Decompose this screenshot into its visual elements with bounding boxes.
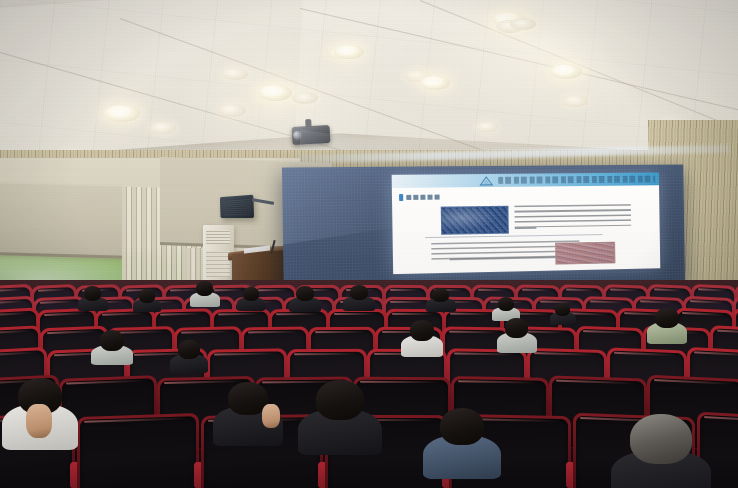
attendee-head [655,308,679,328]
slide-photo-landscape [555,242,615,265]
attendee-head [432,288,449,302]
slide-paragraph-tail [515,227,537,229]
attendee-head [84,286,101,301]
attendee-head [350,285,368,300]
seat-highlight [276,313,318,315]
slide-paragraph-text [514,204,631,227]
attendee-front-phone-face [262,404,280,428]
attendee-head [555,303,570,316]
presentation-slide [392,173,661,275]
attendee-head [410,320,434,341]
ceiling-downlight-2 [258,85,292,101]
seat-highlight [258,289,286,291]
projector-mount [305,119,311,128]
ceiling-downlight-6 [150,122,176,134]
ac-grille-top [206,230,230,244]
slide-header-title-text [498,175,655,183]
led-display-wall[interactable] [282,165,685,293]
ceiling-downlight-7 [218,104,246,117]
ceiling-downlight-17 [476,122,498,132]
ceiling-downlight-1 [104,105,140,122]
attendee-head [630,414,692,464]
slide-divider [425,234,602,238]
attendee-head [100,330,124,351]
attendee-head [440,408,484,445]
ceiling-downlight-13 [420,76,450,90]
attendee-head [296,286,314,301]
ceiling-downlight-14 [550,64,582,79]
slide-photo-conference [441,206,509,235]
wall-speaker [220,195,254,218]
attendee-head [498,297,514,311]
seat-highlight [334,313,376,315]
seat-highlight [392,313,434,315]
seat-back [80,416,196,488]
attendee-head [243,287,259,301]
seat-highlight [294,353,356,355]
attendee-head [505,318,528,338]
ceiling-downlight-15 [562,95,588,107]
seat-highlight [360,381,440,383]
heading-bullet-icon [399,194,403,201]
auditorium-photo [0,0,738,488]
ceiling-downlight-8 [292,92,318,104]
auditorium-seat[interactable] [80,416,196,488]
slide-section-heading [399,194,441,202]
attendee-head [178,340,200,359]
roller-blind[interactable] [0,183,122,259]
attendee-head [196,281,213,296]
ceiling-downlight-3 [222,68,248,80]
ac-grille-bottom [206,251,230,277]
attendee-front-left-face [26,404,52,438]
seat-highlight [315,331,365,333]
ceiling-downlight-9 [334,45,364,59]
attendee-head [139,289,155,303]
projector-lens [293,130,302,139]
seat-highlight [390,289,418,291]
attendee-head [316,380,364,420]
ceiling-downlight-12 [510,18,536,30]
organization-logo-icon [478,175,494,185]
projector [292,125,331,145]
seat-highlight [390,301,424,303]
heading-text [406,195,440,200]
slide-header-banner [392,173,659,188]
